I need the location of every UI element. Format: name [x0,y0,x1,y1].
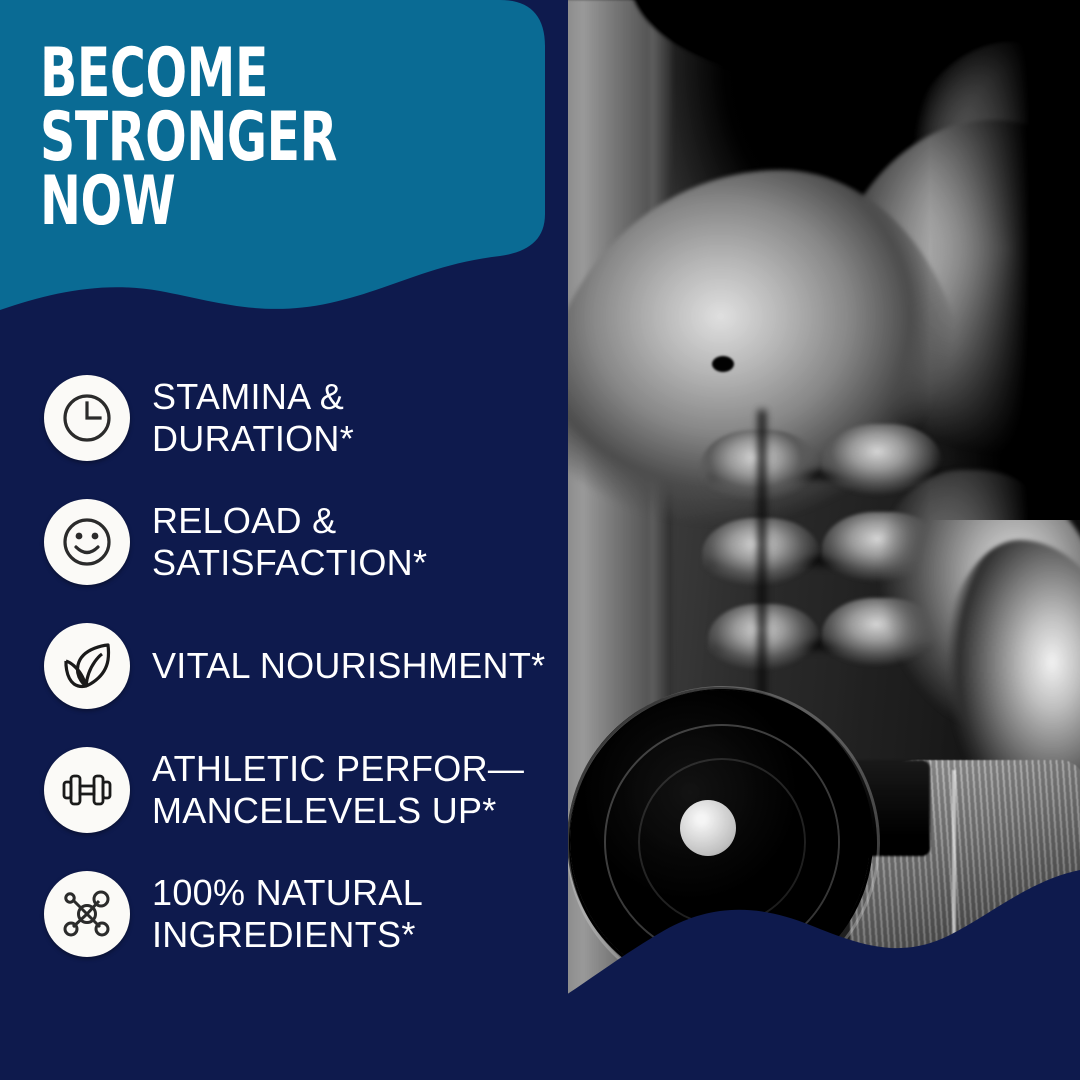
clock-icon [44,375,130,461]
feature-item-ingredients: 100% NATURAL INGREDIENTS* [44,852,564,976]
athlete-photo [560,0,1080,1080]
dumbbell-icon [44,747,130,833]
photo-background-shadow [930,0,1080,520]
photo-denim-seam [952,770,956,1070]
photo-linea-alba [758,410,766,710]
feature-item-reload: RELOAD & SATISFACTION* [44,480,564,604]
leaf-icon [44,623,130,709]
smiley-face-icon [44,499,130,585]
feature-list: STAMINA & DURATION* RELOAD & SATISFACTIO… [44,356,564,976]
photo-image [560,0,1080,1080]
feature-label: RELOAD & SATISFACTION* [152,500,427,584]
headline: BECOMESTRONGER NOW [40,42,440,234]
feature-label: 100% NATURAL INGREDIENTS* [152,872,423,956]
feature-label: VITAL NOURISHMENT* [152,645,545,687]
feature-item-stamina: STAMINA & DURATION* [44,356,564,480]
feature-label: STAMINA & DURATION* [152,376,354,460]
advertisement-canvas: BECOMESTRONGER NOW STAMINA & DURATION* [0,0,1080,1080]
headline-line-2: STRONGER NOW [40,106,440,234]
feature-label: ATHLETIC PERFOR— MANCELEVELS UP* [152,748,524,832]
feature-item-nourishment: VITAL NOURISHMENT* [44,604,564,728]
feature-item-performance: ATHLETIC PERFOR— MANCELEVELS UP* [44,728,564,852]
photo-wave-mask [560,0,1080,1080]
photo-dumbbell-hub [680,800,736,856]
molecule-icon [44,871,130,957]
photo-detail [712,356,734,372]
